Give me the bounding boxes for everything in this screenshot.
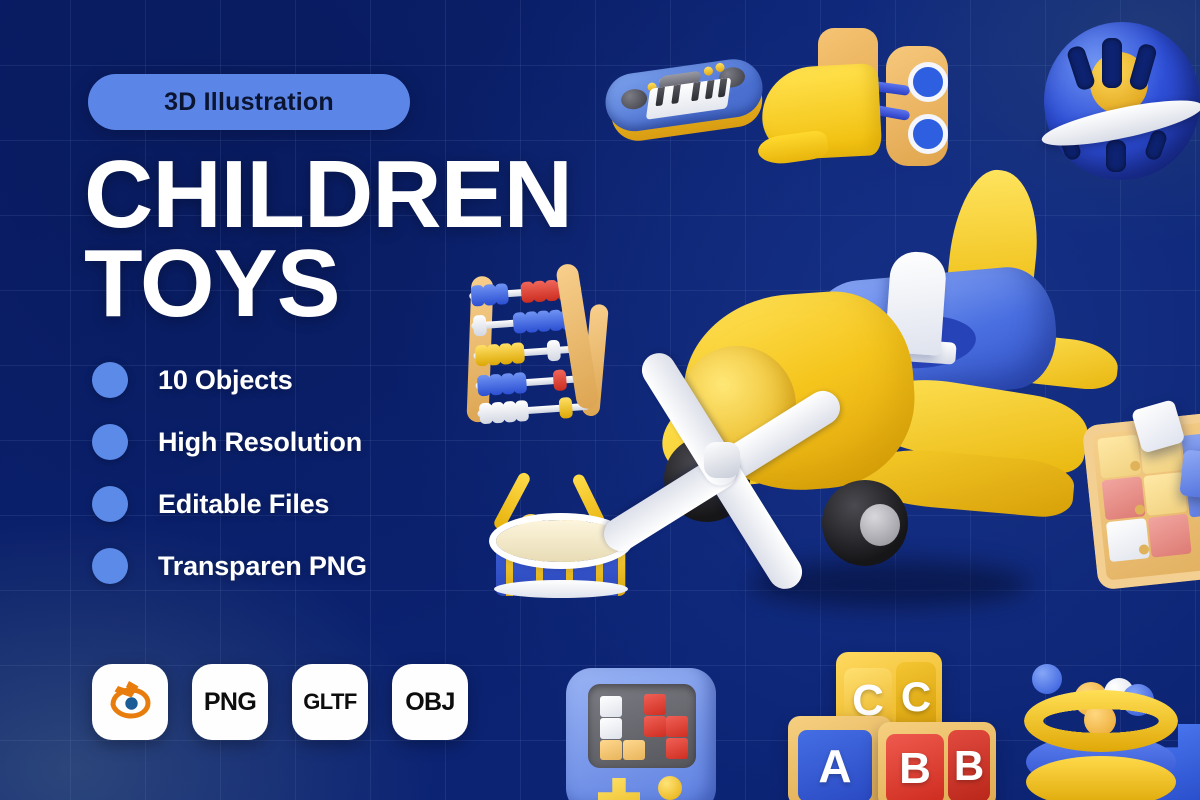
bullet-dot-icon [92,486,128,522]
block-letter: A [798,730,872,800]
blender-logo-icon [107,678,153,727]
category-badge[interactable]: 3D Illustration [88,74,410,130]
toy-airplane-illustration [630,168,1100,618]
bullet-dot-icon [92,424,128,460]
list-item: Editable Files [92,486,367,522]
block-letter: B [886,734,944,800]
format-badge-obj[interactable]: OBJ [392,664,468,740]
feature-label: Editable Files [158,489,329,520]
alphabet-blocks-illustration: C C A B B [786,652,1002,800]
poster-canvas: 3D Illustration CHILDREN TOYS 10 Objects… [0,0,1200,800]
playground-slide-illustration [756,24,972,176]
format-badge-gltf[interactable]: GLTF [292,664,368,740]
format-badge-label: OBJ [405,688,455,717]
format-badge-list: PNG GLTF OBJ [92,664,468,740]
bullet-dot-icon [92,548,128,584]
format-badge-blender[interactable] [92,664,168,740]
list-item: High Resolution [92,424,367,460]
ball-pit-pool-illustration [1022,652,1200,800]
handheld-game-console-illustration [566,668,716,800]
format-badge-label: GLTF [303,689,356,715]
rattle-ball-illustration [1044,22,1200,180]
block-letter: B [948,730,990,800]
category-badge-label: 3D Illustration [164,88,334,117]
bullet-dot-icon [92,362,128,398]
feature-label: High Resolution [158,427,362,458]
feature-list: 10 Objects High Resolution Editable File… [92,362,367,584]
list-item: Transparen PNG [92,548,367,584]
feature-label: Transparen PNG [158,551,367,582]
feature-label: 10 Objects [158,365,293,396]
jigsaw-puzzle-illustration [1082,411,1200,591]
format-badge-png[interactable]: PNG [192,664,268,740]
abacus-illustration [449,256,630,437]
list-item: 10 Objects [92,362,367,398]
format-badge-label: PNG [204,688,256,717]
